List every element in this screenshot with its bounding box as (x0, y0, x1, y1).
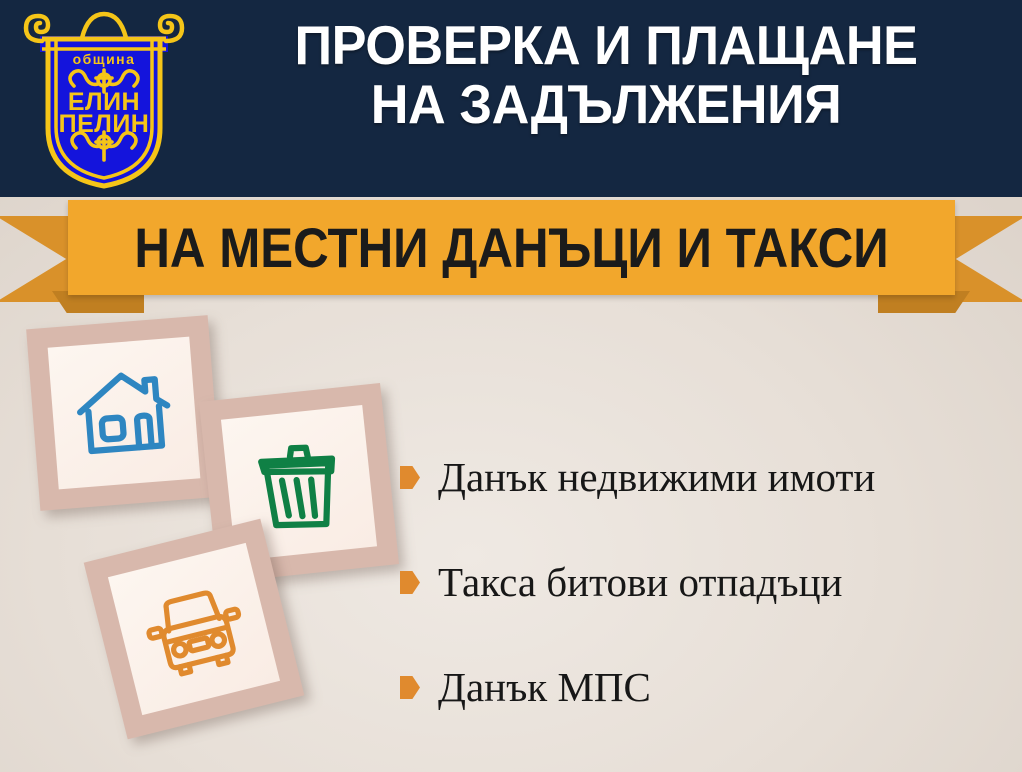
arrow-bullet-icon (400, 571, 420, 594)
ribbon-main-band: НА МЕСТНИ ДАНЪЦИ И ТАКСИ (68, 200, 955, 295)
list-item-label: Данък МПС (438, 667, 651, 708)
logo-pelin-text: ПЕЛИН (59, 110, 150, 138)
ribbon-label: НА МЕСТНИ ДАНЪЦИ И ТАКСИ (121, 200, 902, 295)
logo-obshtina-text: община (73, 51, 136, 67)
list-item-label: Такса битови отпадъци (438, 562, 842, 603)
list-item[interactable]: Данък недвижими имоти (400, 425, 1010, 530)
header-banner: община ЕЛИН ПЕЛИН ПРОВЕРКА И ПЛАЩАНЕ НА … (0, 0, 1022, 197)
page-title: ПРОВЕРКА И ПЛАЩАНЕ НА ЗАДЪЛЖЕНИЯ (220, 16, 991, 135)
arrow-bullet-icon (400, 676, 420, 699)
poster-root: община ЕЛИН ПЕЛИН ПРОВЕРКА И ПЛАЩАНЕ НА … (0, 0, 1022, 772)
municipality-logo: община ЕЛИН ПЕЛИН (18, 8, 190, 190)
subtitle-ribbon: НА МЕСТНИ ДАНЪЦИ И ТАКСИ (0, 196, 1022, 308)
list-item[interactable]: Такса битови отпадъци (400, 530, 1010, 635)
tax-type-list: Данък недвижими имоти Такса битови отпад… (400, 425, 1010, 740)
page-title-line-2: НА ЗАДЪЛЖЕНИЯ (220, 75, 991, 134)
coat-of-arms-icon: община ЕЛИН ПЕЛИН (18, 8, 190, 190)
list-item-label: Данък недвижими имоти (438, 457, 875, 498)
list-item[interactable]: Данък МПС (400, 635, 1010, 740)
page-title-line-1: ПРОВЕРКА И ПЛАЩАНЕ (295, 14, 918, 76)
house-icon (68, 357, 180, 469)
stamp-card-property (26, 315, 222, 511)
arrow-bullet-icon (400, 466, 420, 489)
